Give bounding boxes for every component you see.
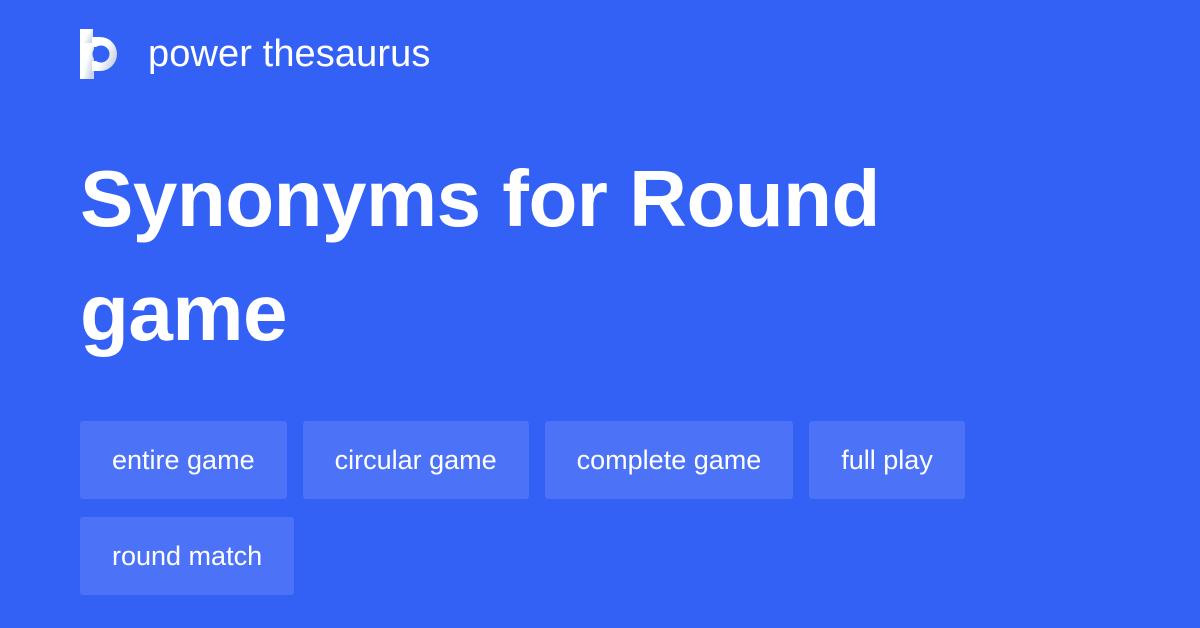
share-card: power thesaurus Synonyms for Round game … <box>0 0 1200 628</box>
synonym-tag[interactable]: round match <box>80 517 294 595</box>
synonym-tag[interactable]: entire game <box>80 421 287 499</box>
synonym-tag[interactable]: full play <box>809 421 965 499</box>
brand-logo[interactable]: power thesaurus <box>80 28 430 80</box>
brand-name: power thesaurus <box>148 35 430 73</box>
synonym-tag[interactable]: complete game <box>545 421 794 499</box>
synonym-tag[interactable]: circular game <box>303 421 529 499</box>
page-title: Synonyms for Round game <box>80 142 980 370</box>
synonym-tag-list: entire game circular game complete game … <box>80 421 1120 595</box>
power-thesaurus-b-logo-icon <box>80 29 126 79</box>
